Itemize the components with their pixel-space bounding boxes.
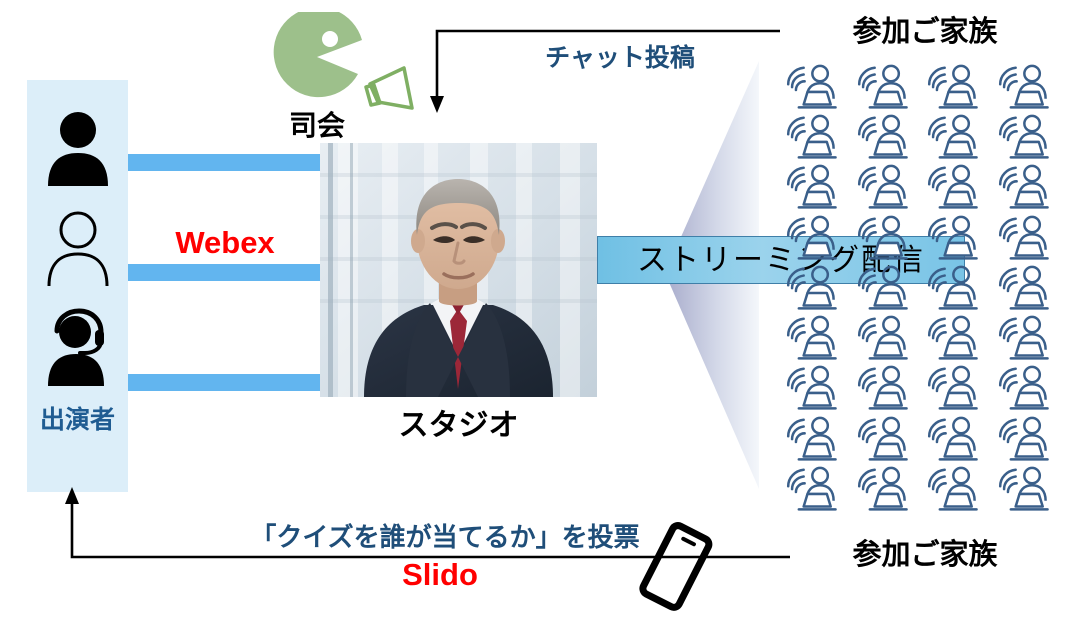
- person-laptop-wifi-icon: [921, 363, 992, 413]
- person-laptop-wifi-icon: [851, 313, 922, 363]
- person-filled-icon: [42, 108, 114, 186]
- person-laptop-wifi-icon: [921, 263, 992, 313]
- person-laptop-wifi-icon: [851, 414, 922, 464]
- person-laptop-wifi-icon: [851, 363, 922, 413]
- person-laptop-wifi-icon: [992, 414, 1063, 464]
- person-laptop-wifi-icon: [992, 112, 1063, 162]
- person-laptop-wifi-icon: [921, 213, 992, 263]
- audience-label-bottom: 参加ご家族: [800, 531, 1050, 573]
- person-laptop-wifi-icon: [780, 62, 851, 112]
- webex-label: Webex: [140, 225, 310, 261]
- person-laptop-wifi-icon: [780, 263, 851, 313]
- person-headset-icon: [42, 308, 114, 386]
- person-laptop-wifi-icon: [992, 313, 1063, 363]
- person-laptop-wifi-icon: [780, 464, 851, 514]
- person-laptop-wifi-icon: [851, 62, 922, 112]
- person-laptop-wifi-icon: [780, 313, 851, 363]
- person-laptop-wifi-icon: [921, 112, 992, 162]
- person-laptop-wifi-icon: [780, 414, 851, 464]
- person-laptop-wifi-icon: [921, 414, 992, 464]
- person-laptop-wifi-icon: [992, 162, 1063, 212]
- mc-label: 司会: [262, 104, 372, 144]
- mc-head-icon: [272, 12, 362, 102]
- person-laptop-wifi-icon: [992, 213, 1063, 263]
- audience-grid: [780, 62, 1062, 514]
- person-laptop-wifi-icon: [992, 263, 1063, 313]
- diagram-canvas: 出演者 Webex 司会: [0, 0, 1072, 624]
- vote-flow-label: 「クイズを誰が当てるか」を投票: [230, 517, 660, 554]
- audience-label-top: 参加ご家族: [800, 8, 1050, 50]
- person-laptop-wifi-icon: [921, 162, 992, 212]
- person-laptop-wifi-icon: [780, 363, 851, 413]
- studio-photo-image: [320, 143, 597, 397]
- person-laptop-wifi-icon: [992, 464, 1063, 514]
- person-laptop-wifi-icon: [921, 62, 992, 112]
- person-laptop-wifi-icon: [851, 213, 922, 263]
- studio-photo: [320, 143, 597, 397]
- performer-panel: 出演者: [27, 80, 128, 492]
- person-laptop-wifi-icon: [921, 464, 992, 514]
- person-outline-icon: [42, 208, 114, 286]
- person-laptop-wifi-icon: [992, 363, 1063, 413]
- person-laptop-wifi-icon: [851, 263, 922, 313]
- person-laptop-wifi-icon: [992, 62, 1063, 112]
- person-laptop-wifi-icon: [851, 112, 922, 162]
- slido-label: Slido: [330, 557, 550, 593]
- chat-flow-label: チャット投稿: [500, 38, 740, 74]
- webex-connector-bar-2: [128, 264, 322, 281]
- person-laptop-wifi-icon: [921, 313, 992, 363]
- smartphone-icon: [630, 516, 720, 616]
- studio-label: スタジオ: [320, 400, 597, 444]
- webex-connector-bar-1: [128, 154, 322, 171]
- person-laptop-wifi-icon: [851, 162, 922, 212]
- person-laptop-wifi-icon: [851, 464, 922, 514]
- person-laptop-wifi-icon: [780, 162, 851, 212]
- webex-connector-bar-3: [128, 374, 322, 391]
- person-laptop-wifi-icon: [780, 112, 851, 162]
- performer-label: 出演者: [27, 400, 128, 436]
- person-laptop-wifi-icon: [780, 213, 851, 263]
